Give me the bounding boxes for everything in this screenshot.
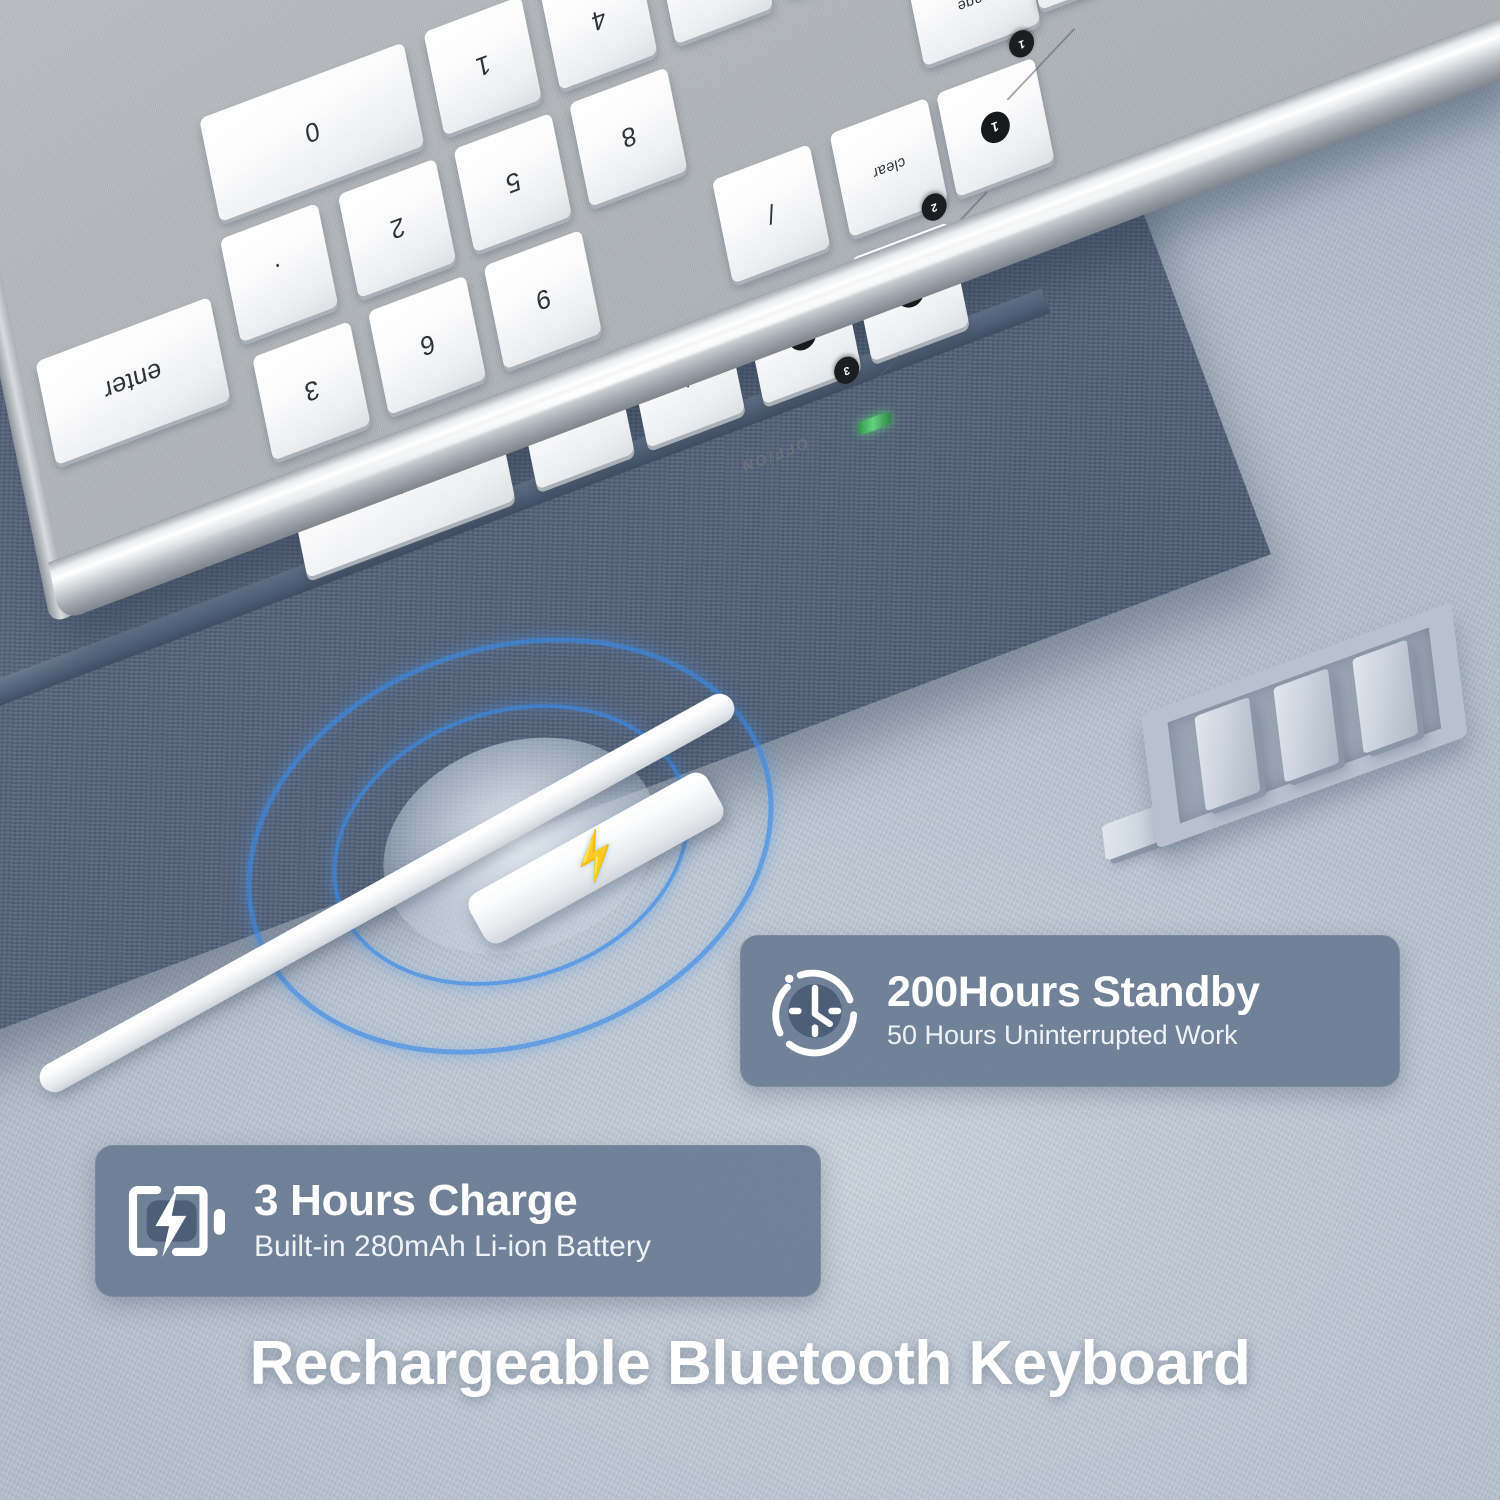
battery-charging-icon xyxy=(124,1178,228,1264)
battery-bar xyxy=(1273,668,1339,783)
battery-bar xyxy=(1352,639,1418,754)
bluetooth-icon: 1 xyxy=(978,107,1012,147)
charge-badge-title: 3 Hours Charge xyxy=(254,1178,651,1225)
glow-ring-outer xyxy=(190,569,831,1123)
page-title: Rechargeable Bluetooth Keyboard xyxy=(0,1328,1500,1399)
charge-badge-subtitle: Built-in 280mAh Li-ion Battery xyxy=(254,1229,651,1264)
standby-badge: 200Hours Standby 50 Hours Uninterrupted … xyxy=(740,935,1400,1087)
clock-icon xyxy=(769,965,861,1057)
charge-badge: 3 Hours Charge Built-in 280mAh Li-ion Ba… xyxy=(95,1145,821,1297)
standby-badge-title: 200Hours Standby xyxy=(887,970,1260,1016)
charging-glow-group: ⚡ xyxy=(180,560,840,1180)
standby-badge-subtitle: 50 Hours Uninterrupted Work xyxy=(887,1020,1260,1052)
charge-badge-text: 3 Hours Charge Built-in 280mAh Li-ion Ba… xyxy=(254,1178,651,1264)
product-scene: enter . 0 1 2 3 4 5 6 7 8 9 + * - / clea… xyxy=(0,0,1500,1500)
battery-bar xyxy=(1194,697,1260,812)
standby-badge-text: 200Hours Standby 50 Hours Uninterrupted … xyxy=(887,970,1260,1052)
